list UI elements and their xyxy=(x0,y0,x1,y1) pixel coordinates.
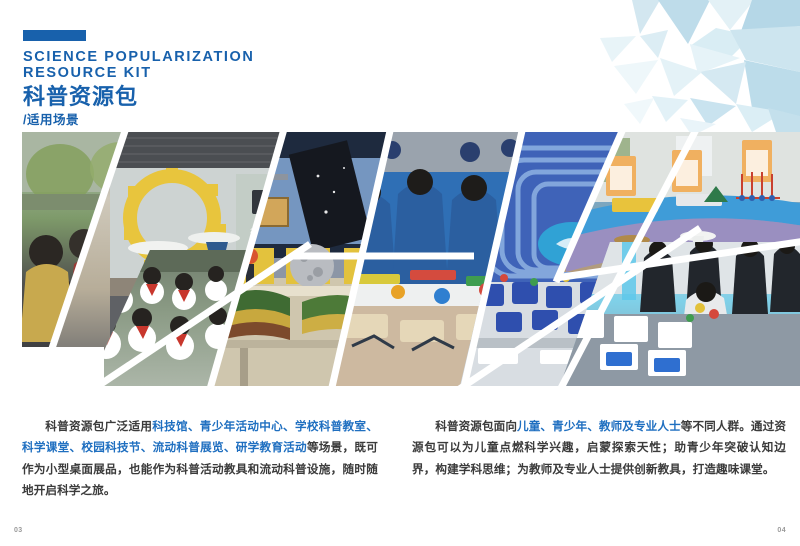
column-left: 科普资源包广泛适用科技馆、青少年活动中心、学校科普教室、科学课堂、校园科技节、流… xyxy=(0,404,400,513)
brochure-page: SCIENCE POPULARIZATION RESOURCE KIT 科普资源… xyxy=(0,0,800,546)
paragraph-left: 科普资源包广泛适用科技馆、青少年活动中心、学校科普教室、科学课堂、校园科技节、流… xyxy=(22,416,378,502)
text-segment: 科普资源包面向 xyxy=(435,420,517,433)
accent-bar xyxy=(23,30,86,41)
text-segment-highlight: 儿童、青少年、教师及专业人士 xyxy=(517,420,681,433)
page-number-left: 03 xyxy=(14,527,23,534)
photo-collage: 神奇世界 xyxy=(0,132,800,386)
page-subtitle: /适用场景 xyxy=(23,113,255,128)
eyebrow-heading: SCIENCE POPULARIZATION RESOURCE KIT xyxy=(23,50,255,81)
page-header: SCIENCE POPULARIZATION RESOURCE KIT 科普资源… xyxy=(23,30,255,128)
polygon-decoration xyxy=(540,0,800,136)
column-right: 科普资源包面向儿童、青少年、教师及专业人士等不同人群。通过资源包可以为儿童点燃科… xyxy=(400,404,800,513)
text-segment: 科普资源包广泛适用 xyxy=(45,420,152,433)
page-title: 科普资源包 xyxy=(23,84,255,109)
paragraph-right: 科普资源包面向儿童、青少年、教师及专业人士等不同人群。通过资源包可以为儿童点燃科… xyxy=(412,416,786,481)
page-number-right: 04 xyxy=(777,527,786,534)
content-columns: 科普资源包广泛适用科技馆、青少年活动中心、学校科普教室、科学课堂、校园科技节、流… xyxy=(0,404,800,513)
